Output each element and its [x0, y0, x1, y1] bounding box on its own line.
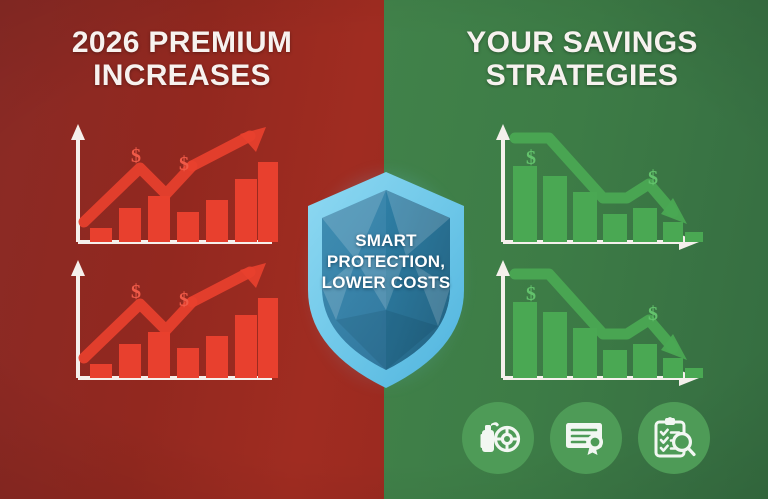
- y-axis-arrowhead: [496, 124, 510, 140]
- dollar-symbol-1: $: [131, 281, 141, 303]
- headline-right-line2: STRATEGIES: [390, 59, 768, 92]
- chart-premium-increase-top: $ $: [62, 122, 287, 252]
- award-ribbon: [587, 434, 603, 455]
- headline-right-line1: YOUR SAVINGS: [390, 26, 768, 59]
- y-axis-arrowhead: [71, 260, 85, 276]
- y-axis-arrowhead: [71, 124, 85, 140]
- badge-audit-review[interactable]: [638, 402, 710, 474]
- icon-badge-row: [462, 402, 712, 482]
- fire-extinguisher-life-ring-icon: [474, 416, 522, 460]
- magnifier: [674, 434, 694, 455]
- dollar-symbol-1: $: [131, 145, 141, 167]
- dollar-symbol-1: $: [526, 147, 536, 169]
- headline-right: YOUR SAVINGS STRATEGIES: [390, 26, 768, 92]
- chart-savings-top: $ $: [487, 122, 712, 252]
- infographic-canvas: 2026 PREMIUM INCREASES YOUR SAVINGS STRA…: [0, 0, 768, 499]
- headline-left-line2: INCREASES: [0, 59, 374, 92]
- chart-savings-bottom: $ $: [487, 258, 712, 388]
- certificate-seal-icon: [563, 418, 609, 458]
- shield-text-line1: SMART: [296, 230, 476, 251]
- y-axis-arrowhead: [496, 260, 510, 276]
- clipboard-checklist-magnifier-icon: [651, 415, 697, 461]
- shield-text: SMART PROTECTION, LOWER COSTS: [296, 230, 476, 293]
- headline-left-line1: 2026 PREMIUM: [0, 26, 374, 59]
- dollar-symbol-2: $: [648, 303, 658, 325]
- dollar-symbol-2: $: [179, 289, 189, 311]
- badge-certification[interactable]: [550, 402, 622, 474]
- shield-text-line2: PROTECTION,: [296, 251, 476, 272]
- dollar-symbol-2: $: [648, 167, 658, 189]
- dollar-symbol-1: $: [526, 283, 536, 305]
- headline-left: 2026 PREMIUM INCREASES: [0, 26, 374, 92]
- badge-risk-safety[interactable]: [462, 402, 534, 474]
- chart-premium-increase-bottom: $ $: [62, 258, 287, 388]
- dollar-symbol-2: $: [179, 153, 189, 175]
- shield-badge: SMART PROTECTION, LOWER COSTS: [296, 160, 476, 400]
- shield-text-line3: LOWER COSTS: [296, 272, 476, 293]
